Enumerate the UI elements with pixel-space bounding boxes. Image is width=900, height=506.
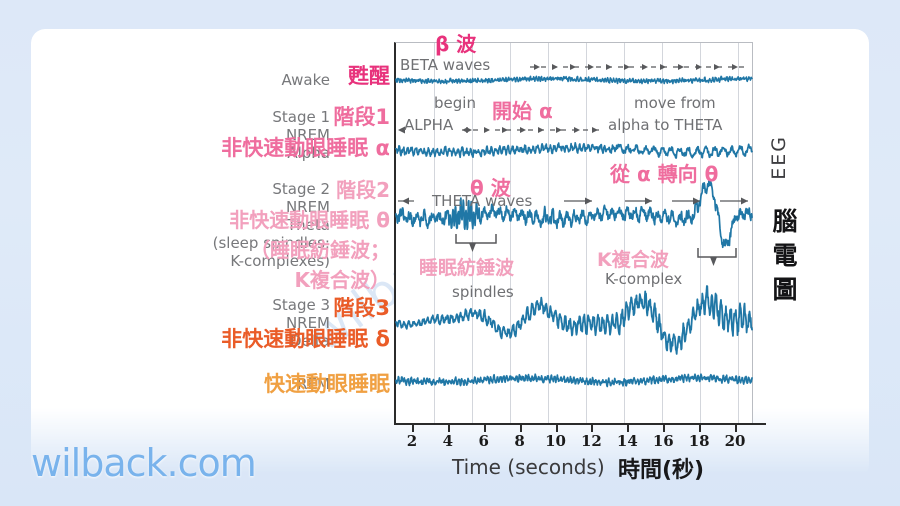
anno-begin-en-2: ALPHA [404,116,453,134]
x-ticklabel-4: 4 [443,432,453,450]
beta-arrow-head [642,64,648,70]
screenshot-root: wilback.com wilback.com Awake Stage 1 NR… [0,0,900,506]
beta-arrow-head [552,64,558,70]
x-tick-20 [735,423,737,432]
x-tick-18 [699,423,701,432]
anno-beta-en: BETA waves [400,56,490,74]
alpha-arrow-head [592,127,598,133]
anno-move-en-2: alpha to THETA [608,116,722,134]
x-axis-label-en: Time (seconds) [452,455,605,479]
x-ticklabel-16: 16 [653,432,674,450]
alpha-arrow-head [538,127,544,133]
alpha-arrow-head [484,127,490,133]
x-ticklabel-8: 8 [514,432,524,450]
beta-arrow-head [624,64,630,70]
x-ticklabel-12: 12 [581,432,602,450]
x-ticklabel-18: 18 [689,432,710,450]
anno-spindles-en: spindles [452,283,514,301]
x-tick-10 [556,423,558,432]
anno-spindles-zh: 睡眠紡錘波 [419,253,514,280]
anno-kcomplex-en: K-complex [605,270,682,288]
x-tick-2 [412,423,414,432]
x-tick-8 [520,423,522,432]
alpha-arrow-head [556,127,562,133]
eeg-zh-char1: 腦 [770,205,800,239]
x-tick-16 [663,423,665,432]
beta-arrow-head [588,64,594,70]
eeg-zh-char3: 圖 [770,273,800,307]
x-ticklabel-2: 2 [407,432,417,450]
anno-begin-zh: 開始 α [492,95,553,124]
alpha-arrow-head [520,127,526,133]
alpha-arrow-start [462,127,468,133]
beta-arrow-head [678,64,684,70]
anno-move-zh: 從 α 轉向 θ [610,158,718,187]
theta-seg-head-3 [741,198,748,205]
x-ticklabel-14: 14 [617,432,638,450]
x-tick-4 [448,423,450,432]
y-axis-label-en: EEG [768,135,790,180]
kcomplex-bracket [698,248,736,257]
anno-beta-zh: β 波 [435,28,476,57]
beta-arrow-head [606,64,612,70]
beta-arrow-head [714,64,720,70]
beta-arrow-head [534,64,540,70]
alpha-arrow-head [574,127,580,133]
y-axis-label-zh: 腦 電 圖 [770,205,800,307]
x-tick-14 [627,423,629,432]
anno-move-en-1: move from [634,94,716,112]
anno-theta-en: THETA waves [432,192,532,210]
beta-arrow-head [570,64,576,70]
eeg-zh-char2: 電 [770,239,800,273]
beta-arrow-head [732,64,738,70]
beta-arrow-head [660,64,666,70]
x-ticklabel-6: 6 [479,432,489,450]
x-tick-12 [591,423,593,432]
x-ticklabel-20: 20 [725,432,746,450]
kcomplex-pointer [710,257,717,266]
theta-seg-head-1 [645,198,652,205]
beta-arrow-head [696,64,702,70]
theta-seg-head-0 [585,198,592,205]
x-ticklabel-10: 10 [545,432,566,450]
spindle-pointer [469,243,476,252]
anno-begin-en-1: begin [434,94,476,112]
x-tick-6 [484,423,486,432]
anno-kcomplex-zh: K複合波 [597,245,669,272]
x-axis-label-zh: 時間(秒) [618,452,704,484]
alpha-arrow-head [502,127,508,133]
spindle-bracket [456,234,496,243]
